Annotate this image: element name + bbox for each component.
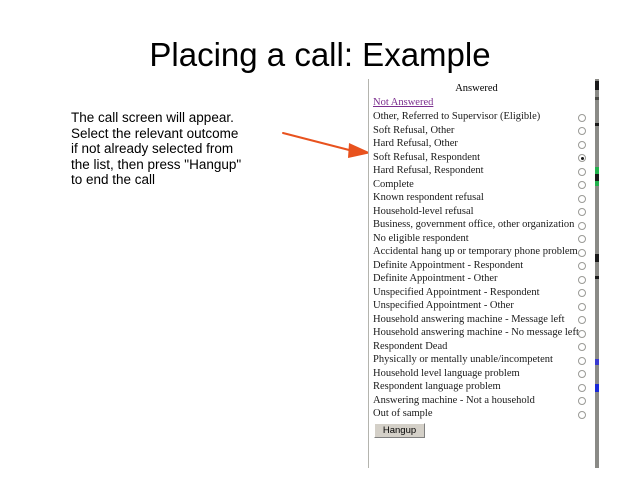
outcome-label: Household level language problem bbox=[373, 367, 520, 381]
outcome-row[interactable]: Household level language problem bbox=[369, 367, 596, 381]
outcome-row[interactable]: Accidental hang up or temporary phone pr… bbox=[369, 245, 596, 259]
scrollbar-mark bbox=[595, 254, 599, 262]
outcome-row[interactable]: Hard Refusal, Respondent bbox=[369, 164, 596, 178]
hangup-button[interactable]: Hangup bbox=[374, 423, 425, 438]
outcome-row[interactable]: Household-level refusal bbox=[369, 205, 596, 219]
outcome-radio-button[interactable] bbox=[578, 181, 586, 189]
outcome-row[interactable]: Known respondent refusal bbox=[369, 191, 596, 205]
outcome-label: Household answering machine - Message le… bbox=[373, 313, 565, 327]
outcome-row[interactable]: Respondent Dead bbox=[369, 340, 596, 354]
scrollbar-mark bbox=[595, 174, 599, 181]
outcome-radio-button[interactable] bbox=[578, 343, 586, 351]
outcome-radio-button[interactable] bbox=[578, 127, 586, 135]
outcome-radio-button[interactable] bbox=[578, 208, 586, 216]
outcome-label: Unspecified Appointment - Respondent bbox=[373, 286, 540, 300]
outcome-radio-button[interactable] bbox=[578, 154, 586, 162]
outcome-label: Unspecified Appointment - Other bbox=[373, 299, 514, 313]
outcome-label: No eligible respondent bbox=[373, 232, 469, 246]
scrollbar-mark bbox=[595, 181, 599, 186]
caption-line: to end the call bbox=[71, 172, 286, 188]
outcome-label: Hard Refusal, Other bbox=[373, 137, 458, 151]
answered-column-header: Answered bbox=[369, 83, 584, 94]
outcome-radio-button[interactable] bbox=[578, 289, 586, 297]
scrollbar-mark bbox=[595, 81, 599, 90]
outcome-label: Complete bbox=[373, 178, 414, 192]
outcome-radio-button[interactable] bbox=[578, 276, 586, 284]
outcome-radio-button[interactable] bbox=[578, 141, 586, 149]
outcome-label: Hard Refusal, Respondent bbox=[373, 164, 484, 178]
outcome-row[interactable]: Household answering machine - No message… bbox=[369, 326, 596, 340]
outcome-row[interactable]: Other, Referred to Supervisor (Eligible) bbox=[369, 110, 596, 124]
caption-line: The call screen will appear. bbox=[71, 110, 286, 126]
outcome-radio-button[interactable] bbox=[578, 330, 586, 338]
outcome-row[interactable]: Definite Appointment - Respondent bbox=[369, 259, 596, 273]
outcome-row[interactable]: Soft Refusal, Other bbox=[369, 124, 596, 138]
outcome-radio-button[interactable] bbox=[578, 303, 586, 311]
outcome-row[interactable]: Soft Refusal, Respondent bbox=[369, 151, 596, 165]
outcome-radio-button[interactable] bbox=[578, 370, 586, 378]
not-answered-link[interactable]: Not Answered bbox=[373, 97, 433, 108]
caption-line: Select the relevant outcome bbox=[71, 126, 286, 142]
outcome-radio-button[interactable] bbox=[578, 168, 586, 176]
outcome-label: Respondent Dead bbox=[373, 340, 447, 354]
outcome-label: Soft Refusal, Respondent bbox=[373, 151, 480, 165]
outcome-label: Out of sample bbox=[373, 407, 433, 421]
outcome-label: Known respondent refusal bbox=[373, 191, 484, 205]
outcome-row[interactable]: Hard Refusal, Other bbox=[369, 137, 596, 151]
scrollbar-mark bbox=[595, 359, 599, 365]
caption-line: the list, then press "Hangup" bbox=[71, 157, 286, 173]
outcome-row[interactable]: Unspecified Appointment - Other bbox=[369, 299, 596, 313]
outcome-row[interactable]: Unspecified Appointment - Respondent bbox=[369, 286, 596, 300]
page-title: Placing a call: Example bbox=[0, 36, 640, 74]
outcome-radio-list: Other, Referred to Supervisor (Eligible)… bbox=[369, 110, 596, 421]
outcome-label: Definite Appointment - Respondent bbox=[373, 259, 523, 273]
pointer-arrow-icon bbox=[281, 126, 373, 162]
outcome-row[interactable]: Definite Appointment - Other bbox=[369, 272, 596, 286]
vertical-scrollbar[interactable] bbox=[595, 79, 599, 468]
outcome-radio-button[interactable] bbox=[578, 249, 586, 257]
outcome-label: Answering machine - Not a household bbox=[373, 394, 535, 408]
scrollbar-mark bbox=[595, 384, 599, 392]
outcome-radio-button[interactable] bbox=[578, 195, 586, 203]
outcome-radio-button[interactable] bbox=[578, 384, 586, 392]
caption-line: if not already selected from bbox=[71, 141, 286, 157]
scrollbar-mark bbox=[595, 123, 599, 126]
outcome-radio-button[interactable] bbox=[578, 222, 586, 230]
outcome-row[interactable]: Respondent language problem bbox=[369, 380, 596, 394]
outcome-radio-button[interactable] bbox=[578, 262, 586, 270]
outcome-row[interactable]: Household answering machine - Message le… bbox=[369, 313, 596, 327]
outcome-row[interactable]: Answering machine - Not a household bbox=[369, 394, 596, 408]
outcome-label: Respondent language problem bbox=[373, 380, 501, 394]
outcome-row[interactable]: Business, government office, other organ… bbox=[369, 218, 596, 232]
outcome-label: Accidental hang up or temporary phone pr… bbox=[373, 245, 578, 259]
instruction-caption: The call screen will appear. Select the … bbox=[71, 110, 286, 188]
outcome-radio-button[interactable] bbox=[578, 235, 586, 243]
outcome-label: Definite Appointment - Other bbox=[373, 272, 498, 286]
outcome-radio-button[interactable] bbox=[578, 114, 586, 122]
outcome-radio-button[interactable] bbox=[578, 411, 586, 419]
outcome-row[interactable]: Physically or mentally unable/incompeten… bbox=[369, 353, 596, 367]
outcome-row[interactable]: Out of sample bbox=[369, 407, 596, 421]
outcome-radio-button[interactable] bbox=[578, 316, 586, 324]
outcome-label: Business, government office, other organ… bbox=[373, 218, 574, 232]
outcome-row[interactable]: No eligible respondent bbox=[369, 232, 596, 246]
outcome-row[interactable]: Complete bbox=[369, 178, 596, 192]
outcome-label: Other, Referred to Supervisor (Eligible) bbox=[373, 110, 540, 124]
outcome-radio-button[interactable] bbox=[578, 357, 586, 365]
outcome-label: Soft Refusal, Other bbox=[373, 124, 454, 138]
outcome-label: Household-level refusal bbox=[373, 205, 474, 219]
scrollbar-mark bbox=[595, 276, 599, 279]
call-screen-pane: Answered Not Answered Other, Referred to… bbox=[368, 79, 597, 468]
scrollbar-mark bbox=[595, 97, 599, 100]
scrollbar-mark bbox=[595, 167, 599, 174]
outcome-label: Household answering machine - No message… bbox=[373, 326, 579, 340]
outcome-label: Physically or mentally unable/incompeten… bbox=[373, 353, 553, 367]
outcome-radio-button[interactable] bbox=[578, 397, 586, 405]
